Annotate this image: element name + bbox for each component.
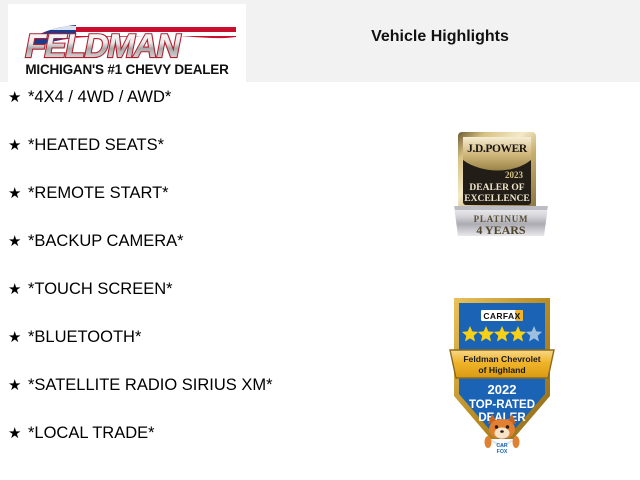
- list-item-label: *4X4 / 4WD / AWD*: [28, 88, 171, 107]
- vehicle-highlights-page: FELDMAN MICHIGAN'S #1 CHEVY DEALER Vehic…: [0, 0, 640, 480]
- jdp-year-label: 2023: [505, 170, 524, 180]
- cfx-dealer-line1: Feldman Chevrolet: [463, 354, 540, 364]
- list-item-label: *BACKUP CAMERA*: [28, 232, 184, 251]
- star-bullet-icon: ★: [8, 186, 28, 201]
- jdp-award-line2: EXCELLENCE: [464, 194, 529, 204]
- star-bullet-icon: ★: [8, 138, 28, 153]
- list-item-label: *LOCAL TRADE*: [28, 424, 155, 443]
- svg-text:FELDMAN: FELDMAN: [22, 28, 183, 60]
- list-item: ★ *LOCAL TRADE*: [0, 424, 420, 472]
- page-title: Vehicle Highlights: [300, 28, 580, 46]
- list-item: ★ *BLUETOOTH*: [0, 328, 420, 376]
- list-item: ★ *TOUCH SCREEN*: [0, 280, 420, 328]
- cfx-mascot-line2: FOX: [497, 449, 508, 455]
- star-bullet-icon: ★: [8, 378, 28, 393]
- star-bullet-icon: ★: [8, 426, 28, 441]
- star-bullet-icon: ★: [8, 330, 28, 345]
- star-bullet-icon: ★: [8, 234, 28, 249]
- cfx-brand-label: CARFAX: [483, 311, 520, 321]
- dealer-logo: FELDMAN MICHIGAN'S #1 CHEVY DEALER: [8, 4, 246, 82]
- list-item: ★ *REMOTE START*: [0, 184, 420, 232]
- list-item: ★ *SATELLITE RADIO SIRIUS XM*: [0, 376, 420, 424]
- jd-power-badge: J.D.POWER 2023 DEALER OF EXCELLENCE PLAT…: [452, 130, 550, 238]
- list-item-label: *BLUETOOTH*: [28, 328, 141, 347]
- jdp-duration-label: 4 YEARS: [476, 223, 526, 237]
- list-item-label: *SATELLITE RADIO SIRIUS XM*: [28, 376, 273, 395]
- list-item-label: *HEATED SEATS*: [28, 136, 164, 155]
- vehicle-highlights-list: ★ *4X4 / 4WD / AWD* ★ *HEATED SEATS* ★ *…: [0, 88, 420, 472]
- jdp-brand-label: J.D.POWER: [467, 143, 528, 155]
- star-bullet-icon: ★: [8, 282, 28, 297]
- cfx-award-line1: TOP-RATED: [469, 399, 535, 411]
- feldman-wordmark-icon: FELDMAN: [14, 24, 240, 60]
- cfx-year-label: 2022: [488, 382, 517, 397]
- list-item: ★ *BACKUP CAMERA*: [0, 232, 420, 280]
- star-bullet-icon: ★: [8, 90, 28, 105]
- jdp-award-line1: DEALER OF: [469, 183, 524, 193]
- list-item: ★ *HEATED SEATS*: [0, 136, 420, 184]
- list-item-label: *REMOTE START*: [28, 184, 169, 203]
- carfax-badge: CARFAX Feldman Chevrolet of Highland 202…: [448, 288, 556, 458]
- cfx-dealer-line2: of Highland: [478, 365, 525, 375]
- dealer-tagline: MICHIGAN'S #1 CHEVY DEALER: [16, 62, 238, 77]
- list-item-label: *TOUCH SCREEN*: [28, 280, 173, 299]
- list-item: ★ *4X4 / 4WD / AWD*: [0, 88, 420, 136]
